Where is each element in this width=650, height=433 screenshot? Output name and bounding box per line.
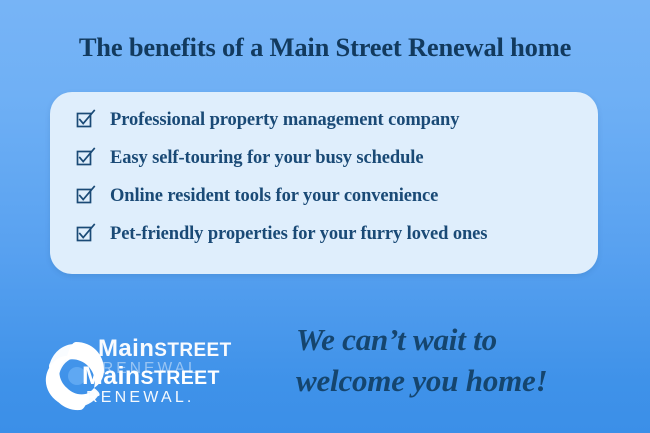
- logo-wordmark-main-ghost: Main: [98, 335, 154, 362]
- logo-wordmark-street-ghost: STREET: [154, 340, 231, 361]
- benefits-card: Professional property management company…: [50, 92, 598, 274]
- list-item: Easy self-touring for your busy schedule: [76, 145, 423, 171]
- tagline: We can’t wait to welcome you home!: [296, 320, 626, 402]
- list-item: Professional property management company: [76, 107, 459, 133]
- logo-wordmark-ghost: MainSTREET: [98, 335, 232, 363]
- list-item: Online resident tools for your convenien…: [76, 183, 438, 209]
- tagline-line-2: welcome you home!: [296, 361, 626, 402]
- list-item: Pet-friendly properties for your furry l…: [76, 221, 487, 247]
- logo-wordmark-street: STREET: [141, 367, 220, 389]
- benefit-label: Professional property management company: [110, 110, 459, 131]
- tagline-line-1: We can’t wait to: [296, 320, 626, 361]
- benefit-label: Pet-friendly properties for your furry l…: [110, 224, 487, 245]
- promo-poster: The benefits of a Main Street Renewal ho…: [0, 0, 650, 433]
- logo-wordmark-main: Main: [82, 362, 141, 390]
- page-title: The benefits of a Main Street Renewal ho…: [0, 33, 650, 62]
- logo-wordmark: MainSTREET: [82, 362, 220, 391]
- checked-checkbox-icon: [76, 188, 93, 205]
- checked-checkbox-icon: [76, 226, 93, 243]
- checked-checkbox-icon: [76, 112, 93, 129]
- checked-checkbox-icon: [76, 150, 93, 167]
- benefit-label: Online resident tools for your convenien…: [110, 186, 438, 207]
- benefit-label: Easy self-touring for your busy schedule: [110, 148, 423, 169]
- logo-subword: RENEWAL.: [86, 389, 195, 407]
- brand-logo: MainSTREET RENEWAL MainSTREET RENEWAL.: [36, 326, 286, 424]
